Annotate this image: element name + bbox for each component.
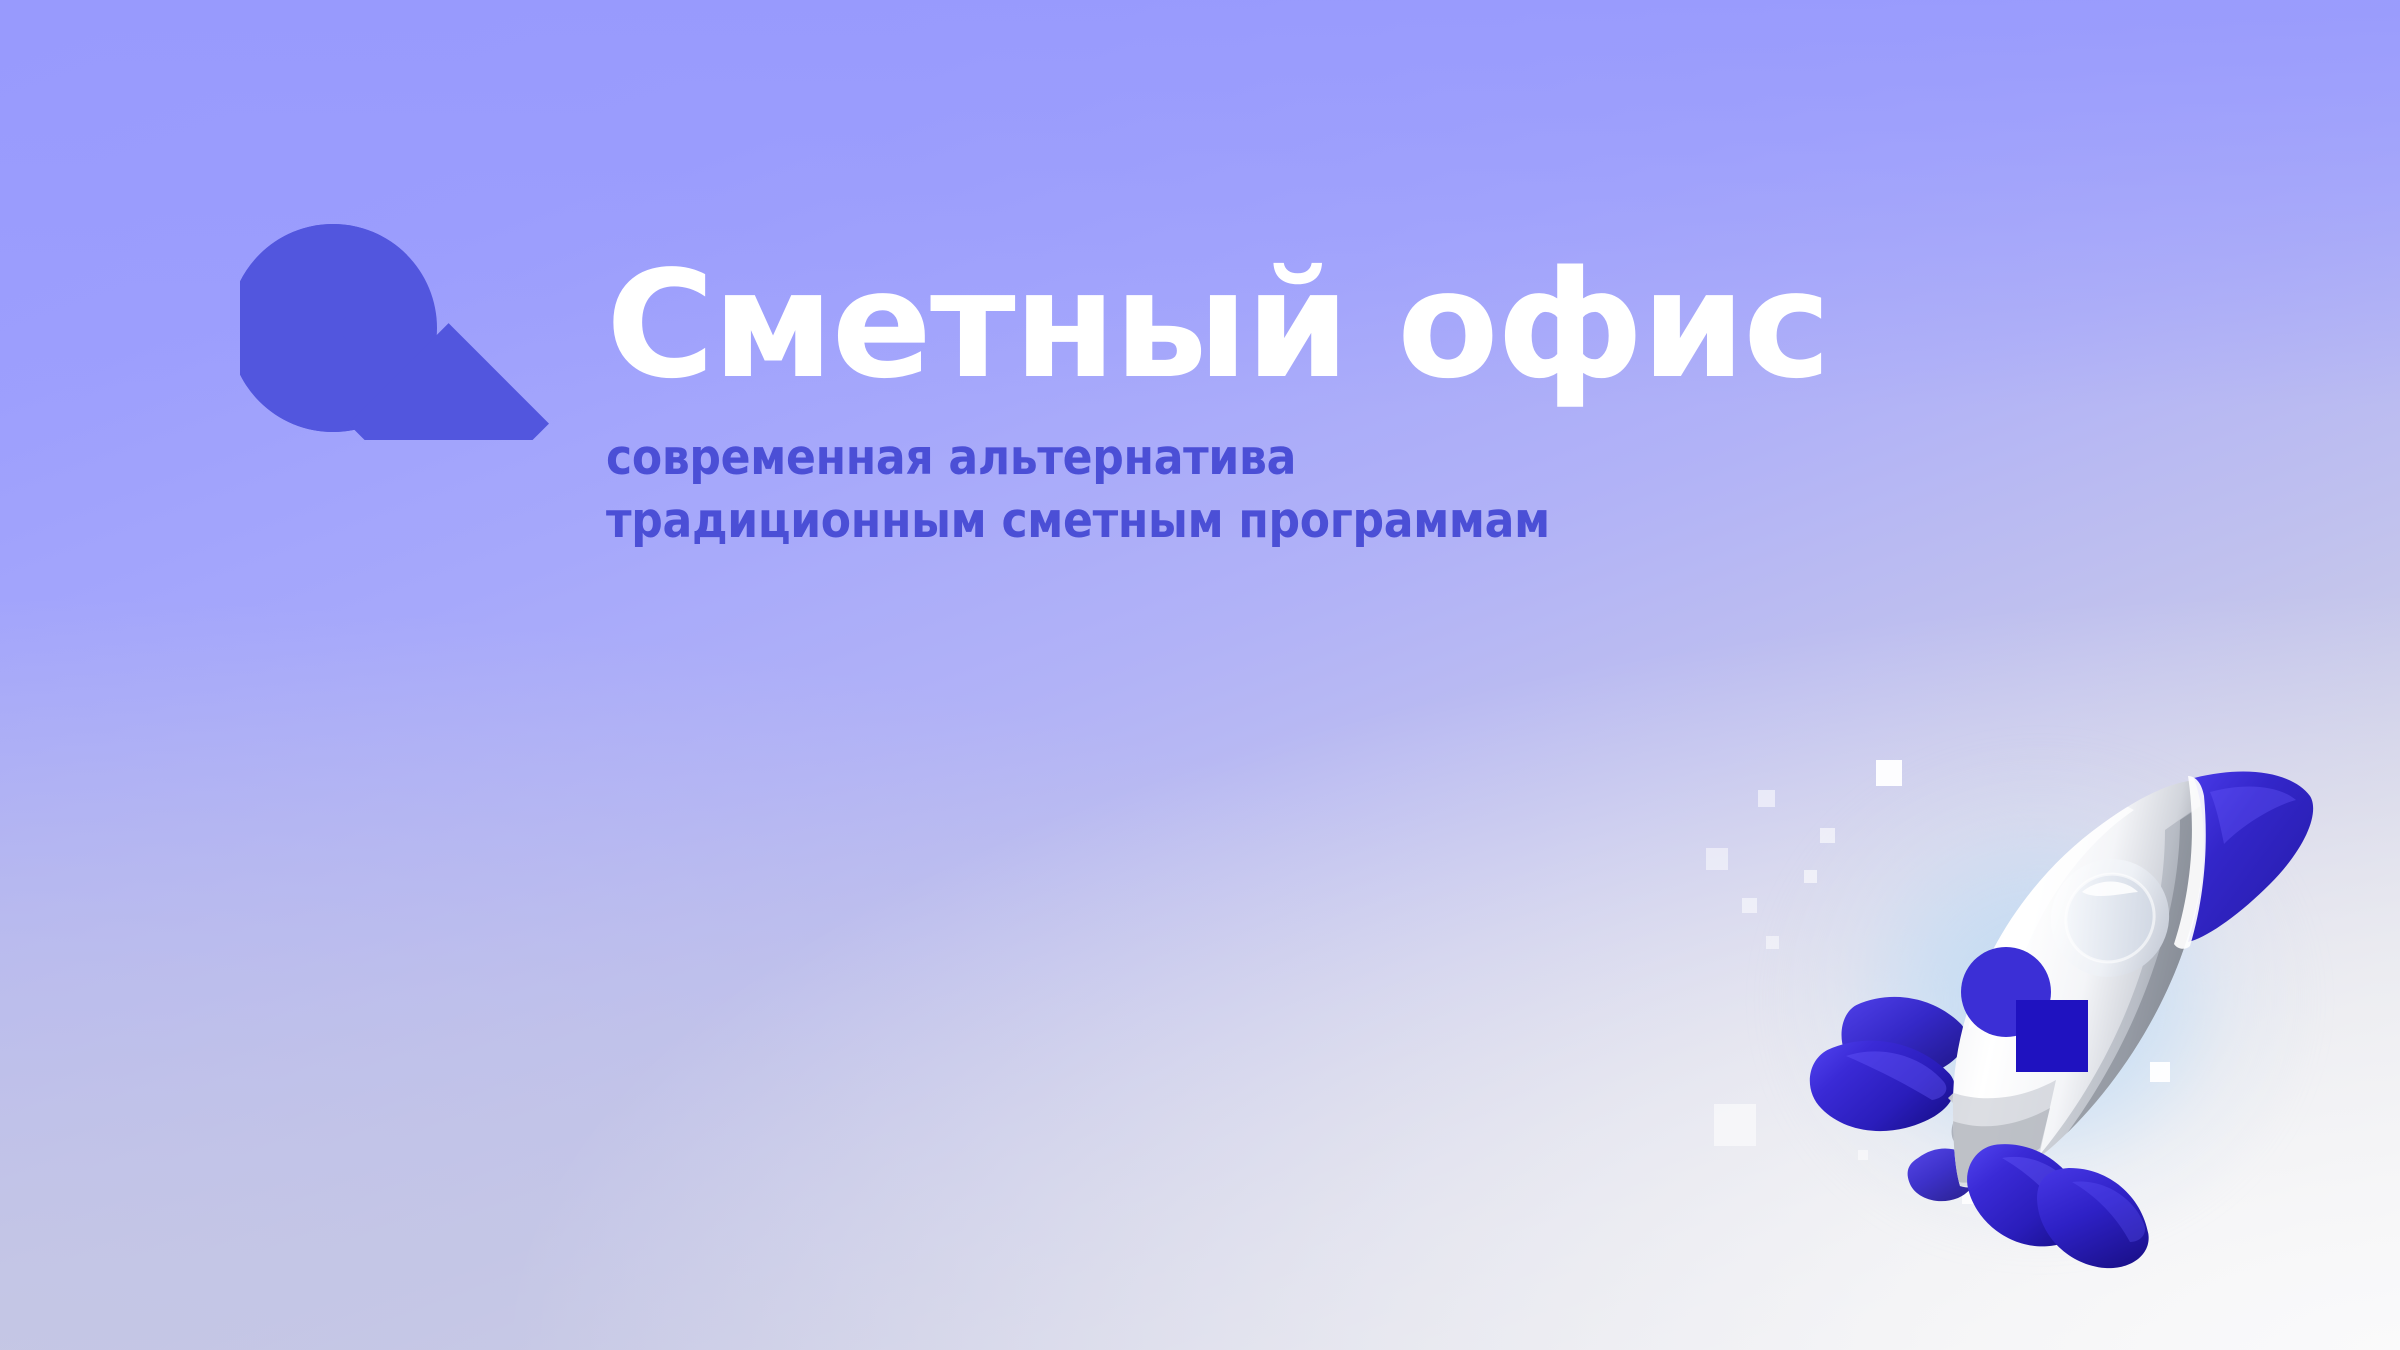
rocket-svg — [1700, 700, 2400, 1350]
hero-subtitle-line-2: традиционным сметным программам — [606, 490, 2106, 553]
page-title: Сметный офис — [606, 250, 2106, 401]
hero-text-block: Сметный офис современная альтернатива тр… — [606, 250, 2106, 552]
brand-logo[interactable] — [240, 215, 560, 440]
brand-logo-svg — [240, 215, 560, 440]
hero-subtitle: современная альтернатива традиционным см… — [606, 427, 2106, 552]
rocket-illustration — [1700, 700, 2400, 1350]
decal-square-icon — [2016, 1000, 2088, 1072]
hero-banner: Сметный офис современная альтернатива тр… — [0, 0, 2400, 1350]
hero-subtitle-line-1: современная альтернатива — [606, 427, 2106, 490]
